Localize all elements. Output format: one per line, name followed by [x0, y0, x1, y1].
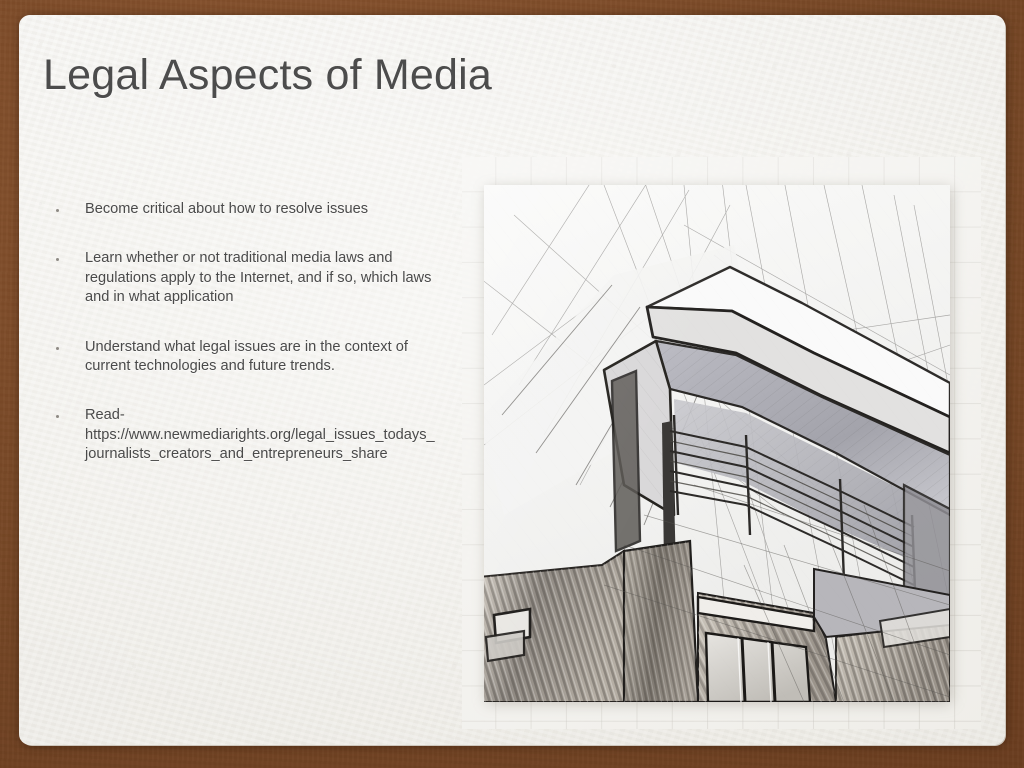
bullet-text: Become critical about how to resolve iss… [85, 200, 437, 219]
list-item: Learn whether or not traditional media l… [52, 249, 437, 307]
presentation-slide: Legal Aspects of Media [0, 0, 1024, 768]
list-item: Understand what legal issues are in the … [52, 338, 437, 377]
architecture-sketch-image [484, 185, 950, 702]
bullet-list: Become critical about how to resolve iss… [52, 200, 437, 495]
bullet-marker-icon [56, 347, 59, 350]
list-item: Become critical about how to resolve iss… [52, 200, 437, 219]
bullet-marker-icon [56, 415, 59, 418]
bullet-text-link[interactable]: Read-https://www.newmediarights.org/lega… [85, 406, 437, 464]
bullet-text: Understand what legal issues are in the … [85, 338, 437, 377]
bullet-marker-icon [56, 209, 59, 212]
bullet-text: Learn whether or not traditional media l… [85, 249, 437, 307]
page-title: Legal Aspects of Media [43, 51, 492, 100]
bullet-marker-icon [56, 258, 59, 261]
list-item: Read-https://www.newmediarights.org/lega… [52, 406, 437, 464]
